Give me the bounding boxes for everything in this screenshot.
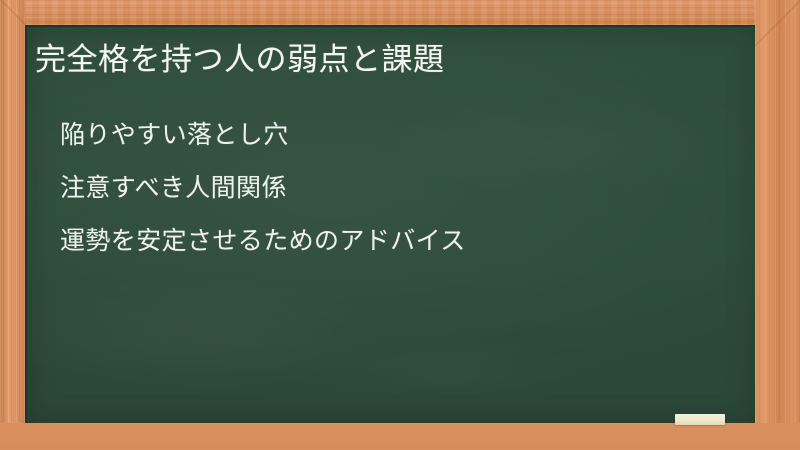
- list-item: 注意すべき人間関係: [60, 162, 466, 215]
- list-item: 運勢を安定させるためのアドバイス: [60, 215, 466, 268]
- frame-rail-top: [0, 0, 800, 25]
- frame-ledge-bottom: [0, 423, 800, 450]
- frame-rail-right: [755, 0, 800, 430]
- chalkboard-wooden-frame: 完全格を持つ人の弱点と課題 陥りやすい落とし穴 注意すべき人間関係 運勢を安定さ…: [0, 0, 800, 450]
- frame-rail-left: [0, 0, 25, 430]
- list-item: 陥りやすい落とし穴: [60, 109, 466, 162]
- chalk-stick: [675, 414, 725, 425]
- slide-title: 完全格を持つ人の弱点と課題: [35, 38, 445, 82]
- chalkboard-surface: 完全格を持つ人の弱点と課題 陥りやすい落とし穴 注意すべき人間関係 運勢を安定さ…: [25, 25, 755, 423]
- slide-bullet-list: 陥りやすい落とし穴 注意すべき人間関係 運勢を安定させるためのアドバイス: [60, 109, 466, 268]
